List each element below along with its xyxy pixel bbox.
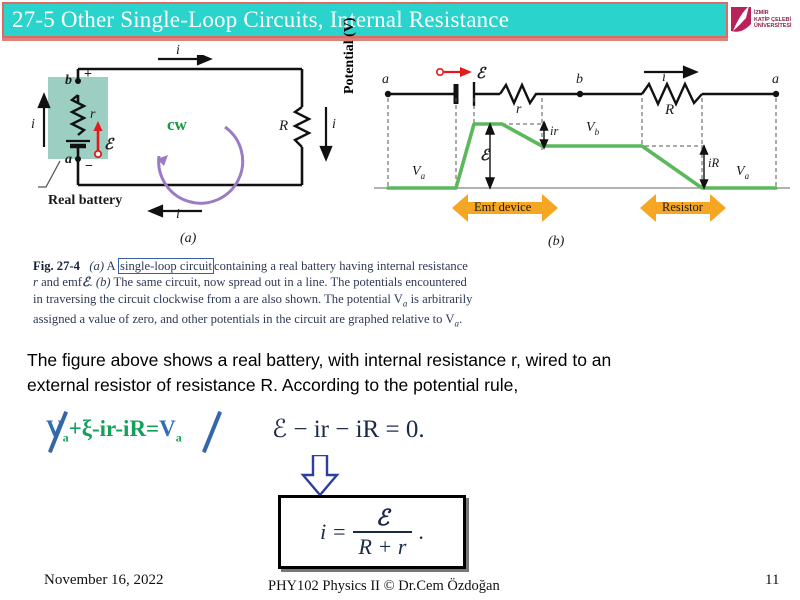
potential-rule-equation: ℰ − ir − iR = 0. (272, 414, 425, 444)
fig-a-node-a-label: a (65, 152, 72, 168)
result-equation-box: i = ℰ R + r . (278, 495, 466, 569)
fig-b-resistor-band-label: Resistor (662, 200, 703, 215)
figure-b-potential-graph: Potential (V) a b a ℰ r R i ir iR ℰ Va V… (352, 58, 792, 253)
fig-b-resistor-R-label: R (665, 102, 674, 119)
down-arrow-icon (298, 455, 342, 497)
caption-text-a-pre: A (106, 259, 114, 273)
fig-a-emf-symbol: ℰ (104, 135, 113, 154)
fig-b-iR-drop-label: iR (708, 156, 719, 171)
caption-fig-number: Fig. 27-4 (33, 259, 80, 273)
slide-title-bar: 27-5 Other Single-Loop Circuits, Interna… (2, 2, 728, 38)
fig-b-emf-source-symbol: ℰ (476, 64, 485, 83)
logo-line-1: İZMİR (754, 10, 769, 16)
title-underline (2, 38, 728, 41)
figure-a-circuit-diagram: b + a − r ℰ R i i i i cw Real battery (a… (30, 55, 360, 255)
result-equation: i = ℰ R + r . (320, 506, 424, 558)
fig-b-sublabel: (b) (548, 234, 564, 250)
fig-b-node-a-right-label: a (772, 72, 779, 88)
fig-a-real-battery-label: Real battery (48, 193, 122, 209)
footer-course-info: PHY102 Physics II © Dr.Cem Özdoğan (268, 578, 500, 595)
body-line-2: external resistor of resistance R. Accor… (27, 373, 782, 398)
annotation-equation: Va+ξ-ir-iR=Va (46, 416, 182, 446)
caption-text-a-post: containing a real battery having interna… (214, 259, 468, 273)
caption-part-b: . (b) (90, 275, 111, 289)
result-trailing-period: . (418, 519, 424, 545)
strikethrough-line-2 (202, 411, 222, 453)
fig-b-current-label: i (662, 70, 666, 86)
fig-b-level-va-left-label: Va (412, 164, 425, 181)
caption-line3-post: is arbitrarily (411, 292, 473, 306)
result-fraction: ℰ R + r (353, 506, 413, 558)
result-numerator: ℰ (370, 506, 395, 529)
result-denominator: R + r (353, 535, 413, 558)
fig-a-current-bottom-label: i (176, 207, 180, 223)
fig-a-minus-sign: − (85, 159, 93, 175)
caption-line3-sub: a (403, 298, 408, 308)
caption-line3: in traversing the circuit clockwise from… (33, 292, 403, 306)
fraction-bar (353, 531, 413, 533)
fig-b-emf-device-band-label: Emf device (474, 200, 531, 215)
annotation-v-2: V (159, 416, 176, 441)
result-lhs: i = (320, 519, 346, 545)
fig-b-emf-rise-label: ℰ (480, 146, 489, 165)
fig-b-level-vb-label: Vb (586, 120, 599, 137)
fig-b-ir-drop-label: ir (550, 124, 558, 139)
caption-line2-mid: and emf (41, 275, 82, 289)
body-text: The figure above shows a real battery, w… (27, 348, 782, 398)
footer-date: November 16, 2022 (44, 572, 164, 589)
body-line-1: The figure above shows a real battery, w… (27, 348, 782, 373)
university-logo: İZMİR KATİP ÇELEBİ ÜNİVERSİTESİ (730, 2, 798, 38)
fig-a-sublabel: (a) (180, 231, 196, 247)
fig-b-node-b-label: b (576, 72, 583, 88)
fig-b-level-va-right-label: Va (736, 164, 749, 181)
fig-b-y-axis-label: Potential (V) (342, 17, 358, 94)
page-title: 27-5 Other Single-Loop Circuits, Interna… (4, 7, 509, 33)
fig-a-current-right-label: i (332, 117, 336, 133)
fig-a-external-resistance-label: R (279, 118, 288, 135)
caption-highlight-box: single-loop circuit (118, 258, 214, 274)
logo-mark-icon (730, 4, 752, 36)
caption-emf-symbol: ℰ (82, 275, 90, 289)
fig-a-node-b-label: b (65, 73, 72, 89)
fig-b-resistor-r-label: r (516, 102, 521, 118)
fig-b-node-a-left-label: a (382, 72, 389, 88)
annotation-sub-2: a (176, 431, 182, 445)
caption-line2-post: The same circuit, now spread out in a li… (114, 275, 467, 289)
logo-text: İZMİR KATİP ÇELEBİ ÜNİVERSİTESİ (752, 10, 791, 29)
logo-line-2: KATİP ÇELEBİ (754, 17, 791, 23)
figure-caption: Fig. 27-4 (a) A single-loop circuitconta… (33, 258, 733, 332)
fig-a-loop-direction-label: cw (167, 115, 187, 135)
annotation-middle: +ξ-ir-iR= (69, 416, 160, 441)
caption-line4: assigned a value of zero, and other pote… (33, 312, 455, 326)
footer-page-number: 11 (765, 572, 779, 589)
fig-a-current-top-label: i (176, 43, 180, 59)
logo-line-3: ÜNİVERSİTESİ (754, 23, 791, 29)
handwritten-annotation: Va+ξ-ir-iR=Va (46, 408, 286, 460)
caption-line2-r: r (33, 275, 38, 289)
caption-line4-post: . (459, 312, 462, 326)
fig-a-internal-resistance-label: r (90, 107, 95, 123)
fig-a-current-left-label: i (31, 117, 35, 133)
caption-part-a: (a) (89, 259, 104, 273)
fig-a-plus-sign: + (84, 67, 92, 83)
